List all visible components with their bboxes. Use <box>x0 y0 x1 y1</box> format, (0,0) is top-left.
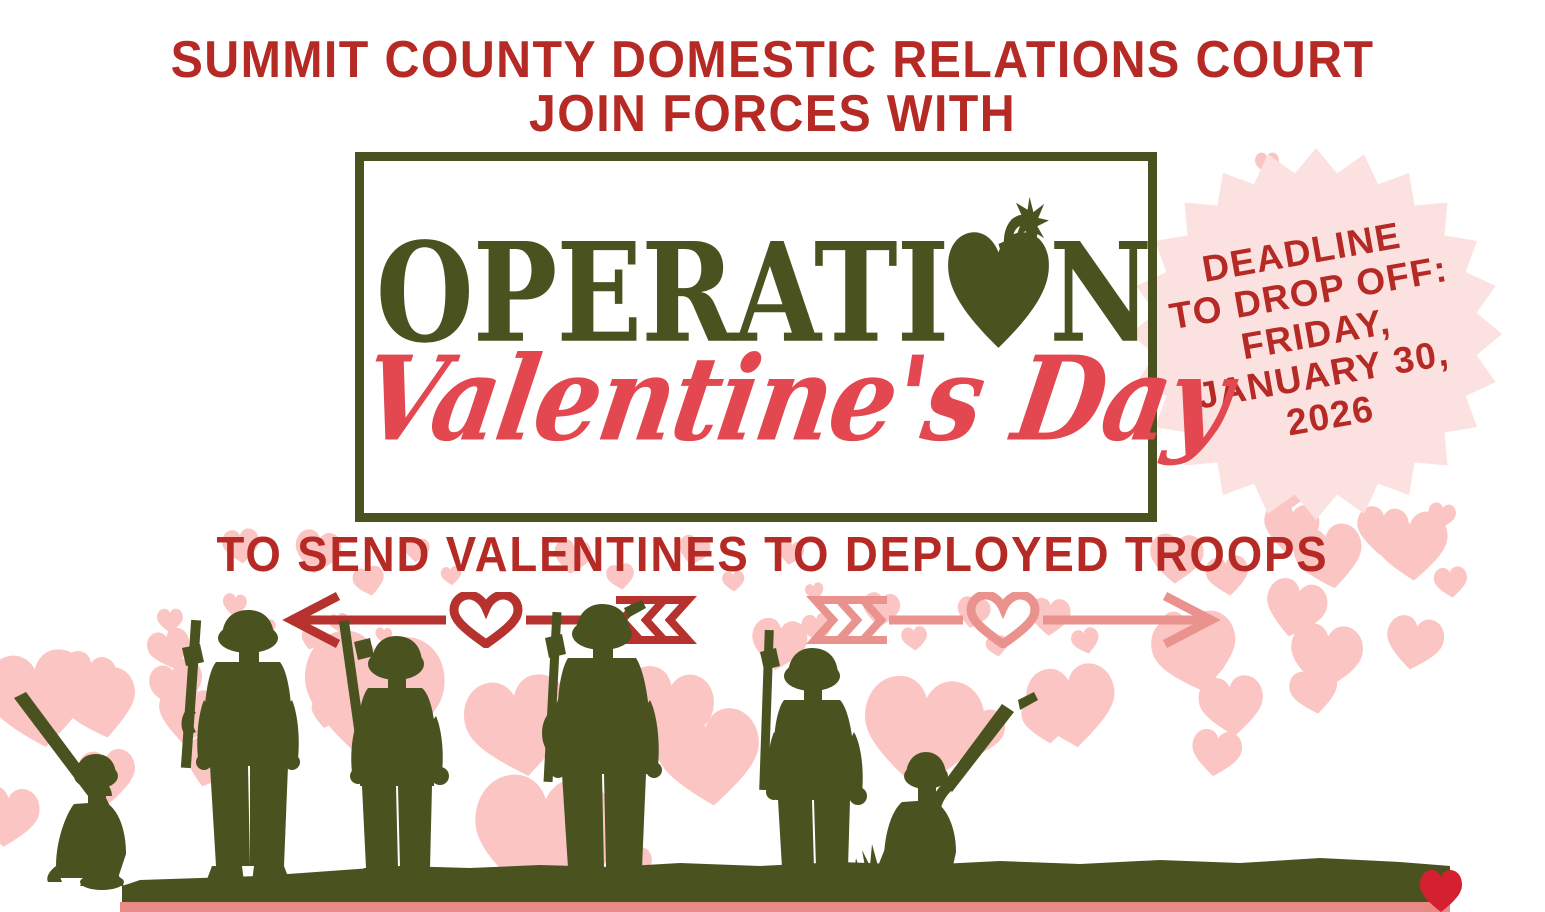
valentines-day-script: Valentine's Day <box>355 341 1157 457</box>
subtitle-send-valentines: TO SEND VALENTINES TO DEPLOYED TROOPS <box>54 530 1491 580</box>
bottom-heart-icon <box>1418 870 1464 912</box>
page-title-line-1: SUMMIT COUNTY DOMESTIC RELATIONS COURT <box>54 34 1491 88</box>
soldier-kneeling-right <box>846 692 1038 890</box>
heart-bomb-icon <box>948 192 1049 322</box>
soldier-silhouettes <box>0 590 1545 912</box>
soldier-kneeling-left <box>14 692 126 890</box>
operation-logo-box: OPERATI N Valentine's Day <box>355 152 1157 522</box>
soldier-standing-2 <box>339 620 449 882</box>
page-title-line-2: JOIN FORCES WITH <box>54 88 1491 142</box>
poster-canvas: SUMMIT COUNTY DOMESTIC RELATIONS COURT J… <box>0 0 1545 912</box>
soldier-standing-4 <box>759 630 867 882</box>
soldier-standing-3 <box>542 600 662 882</box>
bottom-rule-line <box>120 902 1450 912</box>
soldier-standing-1 <box>181 610 300 882</box>
